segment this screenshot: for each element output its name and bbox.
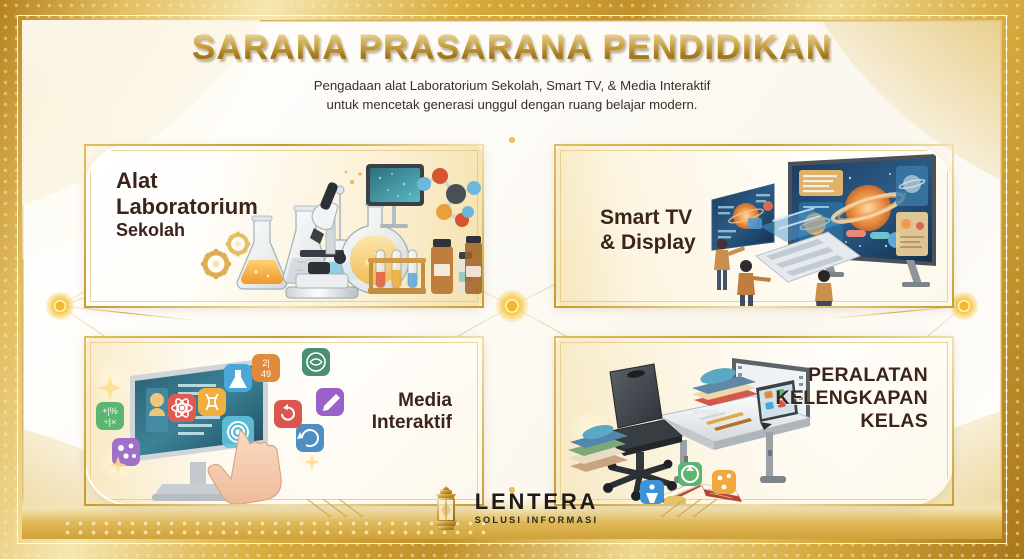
logo-name: LENTERA: [475, 491, 599, 513]
app-tile-sync: [296, 424, 324, 452]
lantern-icon: [426, 485, 466, 531]
page-subtitle: Pengadaan alat Laboratorium Sekolah, Sma…: [22, 76, 1002, 115]
logo-text-block: LENTERA SOLUSI INFORMASI: [475, 491, 599, 525]
label-line-2: KELENGKAPAN: [776, 387, 928, 410]
card-smart-tv[interactable]: Smart TV & Display: [554, 144, 954, 308]
subtitle-line-2: untuk mencetak generasi unggul dengan ru…: [22, 95, 1002, 115]
svg-text:49: 49: [261, 369, 271, 379]
smart-tv-illustration: [700, 148, 950, 308]
app-tile-dna: [198, 388, 226, 416]
card-label-media-interaktif: Media Interaktif: [372, 390, 452, 435]
poster-stage: SARANA PRASARANA PENDIDIKAN Pengadaan al…: [22, 20, 1002, 539]
card-label-peralatan-kelas: PERALATAN KELENGKAPAN KELAS: [776, 364, 928, 433]
label-line-2: Interaktif: [372, 412, 452, 434]
label-line-2: Laboratorium: [116, 194, 258, 220]
svg-text:÷|×: ÷|×: [104, 417, 117, 427]
label-line-1: PERALATAN: [776, 364, 928, 387]
label-line-2: & Display: [600, 231, 696, 256]
card-media-interaktif[interactable]: +|% ÷|×: [84, 336, 484, 506]
card-alat-laboratorium[interactable]: Alat Laboratorium Sekolah: [84, 144, 484, 308]
badge-recycle: [678, 462, 702, 486]
label-line-1: Alat: [116, 168, 258, 194]
card-label-alat-laboratorium: Alat Laboratorium Sekolah: [116, 168, 258, 241]
logo-tagline: SOLUSI INFORMASI: [475, 515, 599, 525]
page-title: SARANA PRASARANA PENDIDIKAN: [22, 30, 1002, 67]
app-tile-math: +|% ÷|×: [96, 402, 124, 430]
card-label-smart-tv: Smart TV & Display: [600, 206, 696, 256]
flourish-left-icon: [297, 495, 417, 521]
app-tile-pen: [316, 388, 344, 416]
subtitle-line-1: Pengadaan alat Laboratorium Sekolah, Sma…: [22, 76, 1002, 96]
card-peralatan-kelengkapan-kelas[interactable]: PERALATAN KELENGKAPAN KELAS: [554, 336, 954, 506]
app-tile-flask: [224, 364, 252, 392]
label-line-1: Smart TV: [600, 206, 696, 231]
app-tile-refresh: [274, 400, 302, 428]
app-tile-brain: [302, 348, 330, 376]
interactive-media-illustration: +|% ÷|×: [90, 342, 360, 506]
app-tile-atom: [168, 394, 196, 422]
app-tile-calendar: 2| 49: [252, 354, 280, 382]
flourish-right-icon: [607, 495, 727, 521]
label-line-3: Sekolah: [116, 220, 258, 241]
svg-text:+|%: +|%: [102, 406, 118, 416]
reagent-bottles-icon: [431, 236, 482, 294]
label-line-1: Media: [372, 390, 452, 412]
label-line-3: KELAS: [776, 410, 928, 433]
molecule-model-icon: [417, 168, 481, 227]
svg-text:2|: 2|: [262, 358, 269, 368]
footer-logo: LENTERA SOLUSI INFORMASI: [22, 485, 1002, 531]
header: SARANA PRASARANA PENDIDIKAN Pengadaan al…: [22, 30, 1002, 115]
